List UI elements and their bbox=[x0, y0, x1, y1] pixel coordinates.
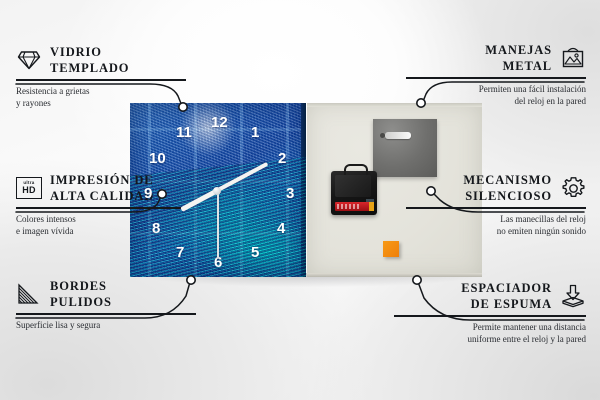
clock-second-hand bbox=[217, 190, 219, 258]
callout-header: ESPACIADOR DE ESPUMA bbox=[394, 280, 586, 312]
callout-header: VIDRIO TEMPLADO bbox=[16, 44, 186, 76]
callout-divider bbox=[406, 77, 586, 79]
callout-header: MECANISMO SILENCIOSO bbox=[406, 172, 586, 204]
callout-header: MANEJAS METAL bbox=[406, 42, 586, 74]
polished-edge-icon bbox=[16, 281, 42, 307]
callout-header: ultra HD IMPRESIÓN DE ALTA CALIDAD bbox=[16, 172, 186, 204]
callout-description: Superficie lisa y segura bbox=[16, 319, 196, 332]
callout-title: VIDRIO TEMPLADO bbox=[50, 44, 129, 76]
callout-silent-mechanism: MECANISMO SILENCIOSO Las manecillas del … bbox=[406, 172, 586, 238]
clock-numeral-5: 5 bbox=[251, 245, 259, 260]
callout-divider bbox=[406, 207, 586, 209]
infographic-canvas: 12 1 2 3 4 5 6 7 8 9 10 11 bbox=[0, 0, 600, 400]
callout-divider bbox=[394, 315, 586, 317]
callout-tempered-glass: VIDRIO TEMPLADO Resistencia a grietas y … bbox=[16, 44, 186, 110]
callout-polished-edges: BORDES PULIDOS Superficie lisa y segura bbox=[16, 278, 196, 331]
callout-title: BORDES PULIDOS bbox=[50, 278, 112, 310]
callout-description: Permiten una fácil instalación del reloj… bbox=[406, 83, 586, 109]
diamond-icon bbox=[16, 47, 42, 73]
clock-numeral-3: 3 bbox=[286, 186, 294, 201]
clock-numeral-10: 10 bbox=[149, 151, 166, 166]
clock-numeral-2: 2 bbox=[278, 151, 286, 166]
callout-title: MANEJAS METAL bbox=[485, 42, 552, 74]
callout-title: MECANISMO SILENCIOSO bbox=[463, 172, 552, 204]
callout-header: BORDES PULIDOS bbox=[16, 278, 196, 310]
callout-title: IMPRESIÓN DE ALTA CALIDAD bbox=[50, 172, 154, 204]
callout-description: Colores intensos e imagen vívida bbox=[16, 213, 186, 239]
clock-numeral-7: 7 bbox=[176, 245, 184, 260]
callout-hd-print: ultra HD IMPRESIÓN DE ALTA CALIDAD Color… bbox=[16, 172, 186, 238]
hd-icon-large-text: HD bbox=[22, 186, 35, 195]
callout-divider bbox=[16, 207, 186, 209]
clock-numeral-11: 11 bbox=[176, 125, 192, 140]
callout-foam-spacer: ESPACIADOR DE ESPUMA Permite mantener un… bbox=[394, 280, 586, 346]
ultra-hd-icon: ultra HD bbox=[16, 175, 42, 201]
clock-numeral-12: 12 bbox=[211, 115, 228, 130]
callout-divider bbox=[16, 313, 196, 315]
clock-center-cap bbox=[213, 187, 221, 195]
clock-numeral-8: 8 bbox=[152, 221, 160, 236]
callout-description: Las manecillas del reloj no emiten ningú… bbox=[406, 213, 586, 239]
clock-numeral-9: 9 bbox=[144, 186, 152, 201]
clock-numeral-1: 1 bbox=[251, 125, 259, 140]
down-arrow-layers-icon bbox=[560, 283, 586, 309]
gear-icon bbox=[560, 175, 586, 201]
callout-metal-handles: MANEJAS METAL Permiten una fácil instala… bbox=[406, 42, 586, 108]
picture-hanger-icon bbox=[560, 45, 586, 71]
callout-title: ESPACIADOR DE ESPUMA bbox=[461, 280, 552, 312]
callout-description: Permite mantener una distancia uniforme … bbox=[394, 321, 586, 347]
callout-divider bbox=[16, 79, 186, 81]
clock-numeral-4: 4 bbox=[277, 221, 285, 236]
callout-description: Resistencia a grietas y rayones bbox=[16, 85, 186, 111]
